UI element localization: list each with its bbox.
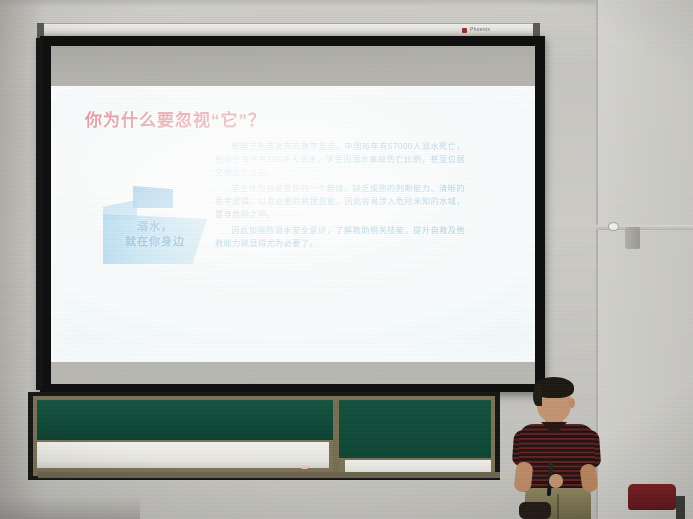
presenter-hair-side (533, 386, 542, 406)
presenter-ear (569, 398, 575, 408)
presenter-arm-right (579, 463, 598, 493)
banner-flap-upper (133, 186, 173, 208)
presenter (505, 374, 625, 519)
slide-paragraph-3: 因此加强防溺水安全意识，了解救助相关技能，提升自救及他救能力就显得尤为必要了。 (215, 224, 465, 250)
presenter-bag (519, 502, 551, 519)
chalkboard (28, 392, 500, 480)
chalk-tray-left (37, 442, 329, 468)
banner-text: 溺水， 就在你身边 (103, 220, 207, 250)
projected-slide: 你为什么要忽视“它”？ 溺水， 就在你身边 根据卫生部发布的数字显示，中国每年有… (51, 86, 535, 362)
ceiling-edge (0, 0, 693, 7)
brand-name-label: Phoenix (470, 27, 490, 33)
chalk-piece (301, 466, 308, 469)
floor-shadow (0, 497, 140, 519)
classroom-photo-scene: Phoenix 你为什么要忽视“它”？ 溺水， 就在你身边 根据卫生部发布的数字… (0, 0, 693, 519)
banner-line-1: 溺水， (103, 220, 207, 235)
brand-mark-icon (462, 28, 467, 33)
chair-edge (676, 496, 685, 519)
chalkboard-divider (333, 400, 339, 472)
presenter-hand (549, 474, 563, 488)
chalkboard-surface-right (339, 400, 491, 458)
dome-camera-icon (608, 222, 619, 231)
slide-paragraph-2: 学生作为容易受伤的一个群体，缺乏成熟的判断能力、清晰的思考逻辑，以及必要的救援技… (215, 182, 465, 221)
screen-brand-logo: Phoenix (462, 25, 520, 35)
wall-camera-icon (625, 227, 640, 249)
slide-banner-graphic: 溺水， 就在你身边 (103, 186, 207, 264)
projector-screen-frame: 你为什么要忽视“它”？ 溺水， 就在你身边 根据卫生部发布的数字显示，中国每年有… (40, 36, 545, 392)
slide-body-text: 根据卫生部发布的数字显示，中国每年有57000人溺水死亡，相当于每天有150多人… (215, 140, 465, 253)
chalkboard-lower-rail (38, 472, 500, 478)
presenter-pants-seam (557, 494, 559, 519)
projector-screen-surface: 你为什么要忽视“它”？ 溺水， 就在你身边 根据卫生部发布的数字显示，中国每年有… (51, 46, 535, 384)
banner-line-2: 就在你身边 (103, 235, 207, 250)
classroom-chair (628, 484, 676, 510)
slide-paragraph-1: 根据卫生部发布的数字显示，中国每年有57000人溺水死亡，相当于每天有150多人… (215, 140, 465, 179)
slide-title: 你为什么要忽视“它”？ (85, 106, 266, 131)
chalkboard-frame (33, 396, 495, 476)
